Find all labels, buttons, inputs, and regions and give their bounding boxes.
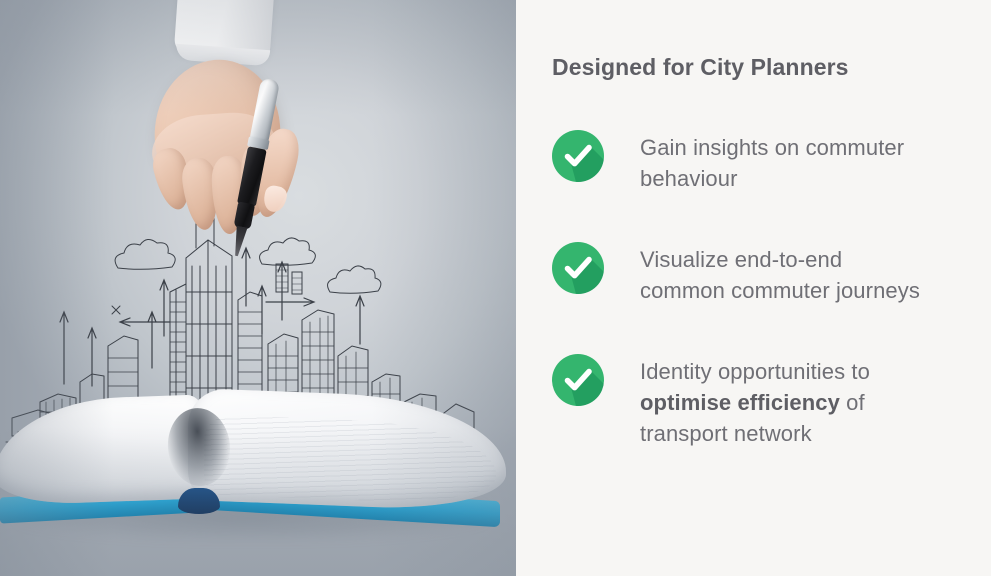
book-spine — [178, 488, 220, 514]
check-circle-icon — [552, 354, 604, 406]
image-panel — [0, 0, 516, 576]
content-panel: Designed for City Planners — [516, 0, 991, 576]
list-item-line: Visualize end-to-end — [640, 247, 842, 272]
list-item: Gain insights on commuter behaviour — [552, 128, 972, 194]
list-item-line: common commuter journeys — [640, 278, 920, 303]
pen-body — [237, 146, 267, 207]
list-item-line: behaviour — [640, 166, 738, 191]
list-item-line: transport network — [640, 421, 812, 446]
feature-list: Gain insights on commuter behaviour — [552, 128, 972, 449]
list-item-line: Gain insights on commuter — [640, 135, 904, 160]
check-circle-icon — [552, 242, 604, 294]
slide: Designed for City Planners — [0, 0, 991, 576]
list-item-text: Gain insights on commuter behaviour — [640, 128, 904, 194]
pen-cap — [250, 78, 280, 142]
list-item-text: Identity opportunities to optimise effic… — [640, 352, 870, 449]
list-item-line-emphasis: optimise efficiency — [640, 390, 840, 415]
list-item-line: Identity opportunities to — [640, 359, 870, 384]
list-item-text: Visualize end-to-end common commuter jou… — [640, 240, 920, 306]
page-title: Designed for City Planners — [552, 54, 849, 81]
list-item: Identity opportunities to optimise effic… — [552, 352, 972, 449]
list-item: Visualize end-to-end common commuter jou… — [552, 240, 972, 306]
check-circle-icon — [552, 130, 604, 182]
list-item-line-suffix: of — [840, 390, 865, 415]
pen-grip — [233, 201, 255, 230]
open-book — [0, 368, 516, 558]
